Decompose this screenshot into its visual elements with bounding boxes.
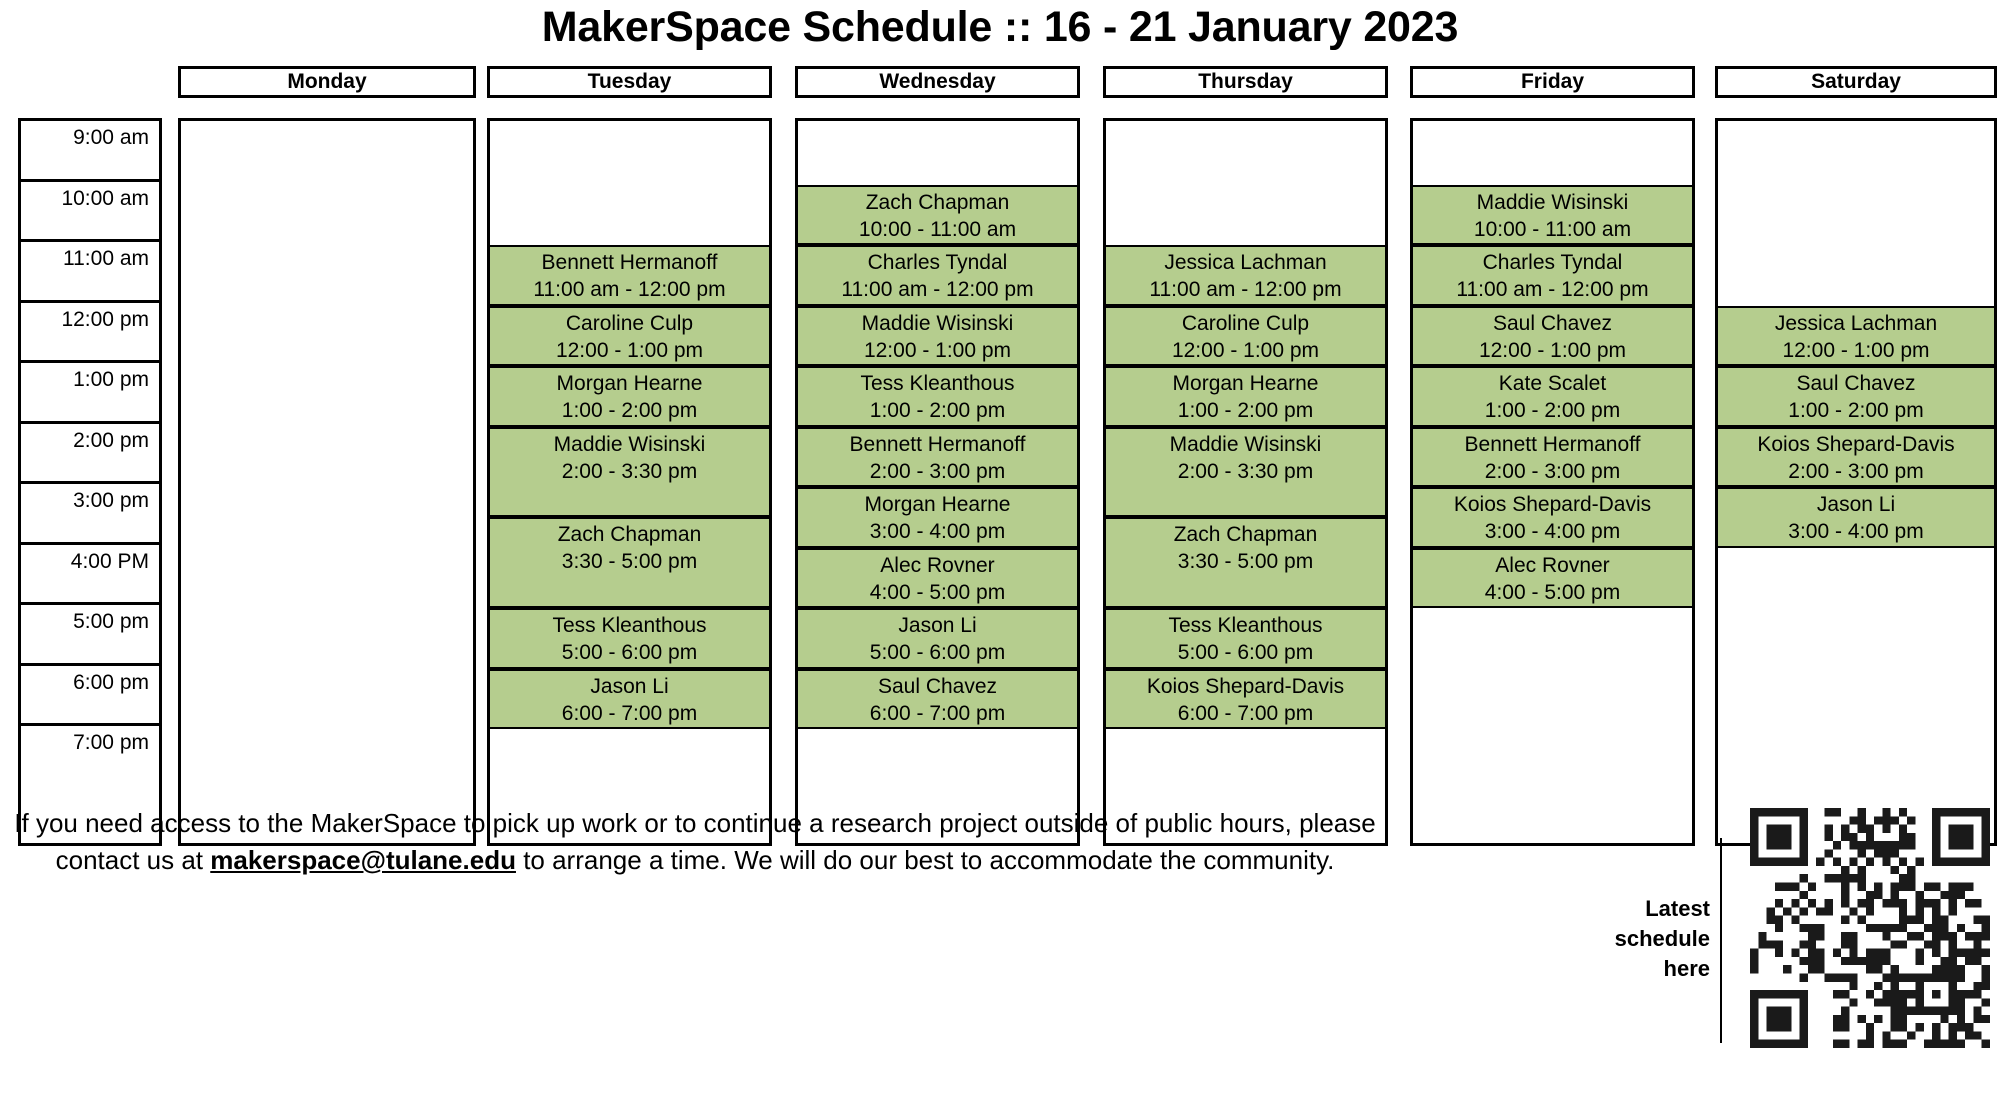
event-block[interactable]: Kate Scalet1:00 - 2:00 pm: [1413, 366, 1692, 427]
day-header-wednesday: Wednesday: [795, 66, 1080, 98]
event-block[interactable]: Tess Kleanthous5:00 - 6:00 pm: [490, 608, 769, 669]
event-block[interactable]: Maddie Wisinski12:00 - 1:00 pm: [798, 306, 1077, 367]
time-label-600pm: 6:00 pm: [21, 666, 159, 727]
event-person-name: Charles Tyndal: [868, 249, 1008, 276]
event-time-range: 2:00 - 3:00 pm: [870, 458, 1005, 485]
event-person-name: Koios Shepard-Davis: [1454, 491, 1651, 518]
event-block[interactable]: Morgan Hearne3:00 - 4:00 pm: [798, 487, 1077, 548]
event-block[interactable]: Jessica Lachman11:00 am - 12:00 pm: [1106, 245, 1385, 306]
event-person-name: Tess Kleanthous: [552, 612, 706, 639]
event-time-range: 5:00 - 6:00 pm: [870, 639, 1005, 666]
event-block[interactable]: Charles Tyndal11:00 am - 12:00 pm: [798, 245, 1077, 306]
event-time-range: 3:30 - 5:00 pm: [562, 548, 697, 575]
event-person-name: Maddie Wisinski: [554, 431, 706, 458]
time-label-200pm: 2:00 pm: [21, 424, 159, 485]
event-person-name: Koios Shepard-Davis: [1147, 673, 1344, 700]
event-block[interactable]: Jason Li3:00 - 4:00 pm: [1718, 487, 1994, 548]
event-block[interactable]: Jason Li5:00 - 6:00 pm: [798, 608, 1077, 669]
day-header-saturday: Saturday: [1715, 66, 1997, 98]
time-axis-column: 9:00 am10:00 am11:00 am12:00 pm1:00 pm2:…: [18, 118, 162, 846]
event-time-range: 1:00 - 2:00 pm: [870, 397, 1005, 424]
event-time-range: 1:00 - 2:00 pm: [1788, 397, 1923, 424]
event-time-range: 3:00 - 4:00 pm: [1485, 518, 1620, 545]
event-block[interactable]: Charles Tyndal11:00 am - 12:00 pm: [1413, 245, 1692, 306]
time-label-500pm: 5:00 pm: [21, 605, 159, 666]
event-person-name: Maddie Wisinski: [1170, 431, 1322, 458]
day-header-row: MondayTuesdayWednesdayThursdayFridaySatu…: [0, 66, 2000, 98]
event-person-name: Jessica Lachman: [1164, 249, 1326, 276]
time-label-700pm: 7:00 pm: [21, 726, 159, 787]
event-time-range: 2:00 - 3:30 pm: [562, 458, 697, 485]
qr-block: Latest schedule here: [1590, 808, 2000, 1078]
makerspace-email-link[interactable]: makerspace@tulane.edu: [210, 845, 516, 875]
event-block[interactable]: Zach Chapman3:30 - 5:00 pm: [490, 517, 769, 608]
event-person-name: Kate Scalet: [1499, 370, 1606, 397]
time-label-900am: 9:00 am: [21, 121, 159, 182]
access-note-text-after: to arrange a time. We will do our best t…: [516, 845, 1334, 875]
day-column-wednesday: Zach Chapman10:00 - 11:00 amCharles Tynd…: [795, 118, 1080, 846]
day-column-monday: [178, 118, 476, 846]
event-person-name: Tess Kleanthous: [860, 370, 1014, 397]
event-person-name: Jason Li: [590, 673, 668, 700]
event-block[interactable]: Jason Li6:00 - 7:00 pm: [490, 669, 769, 730]
time-label-100pm: 1:00 pm: [21, 363, 159, 424]
event-time-range: 3:00 - 4:00 pm: [1788, 518, 1923, 545]
access-note: If you need access to the MakerSpace to …: [0, 805, 1390, 879]
event-time-range: 5:00 - 6:00 pm: [562, 639, 697, 666]
event-person-name: Alec Rovner: [880, 552, 994, 579]
event-time-range: 5:00 - 6:00 pm: [1178, 639, 1313, 666]
event-block[interactable]: Alec Rovner4:00 - 5:00 pm: [798, 548, 1077, 609]
qr-code-icon[interactable]: [1750, 808, 1990, 1048]
time-label-400pm: 4:00 PM: [21, 545, 159, 606]
time-label-1200pm: 12:00 pm: [21, 303, 159, 364]
event-block[interactable]: Jessica Lachman12:00 - 1:00 pm: [1718, 306, 1994, 367]
event-block[interactable]: Saul Chavez1:00 - 2:00 pm: [1718, 366, 1994, 427]
event-block[interactable]: Maddie Wisinski10:00 - 11:00 am: [1413, 185, 1692, 246]
day-header-thursday: Thursday: [1103, 66, 1388, 98]
event-block[interactable]: Saul Chavez12:00 - 1:00 pm: [1413, 306, 1692, 367]
event-block[interactable]: Morgan Hearne1:00 - 2:00 pm: [490, 366, 769, 427]
event-person-name: Maddie Wisinski: [862, 310, 1014, 337]
event-person-name: Saul Chavez: [1796, 370, 1915, 397]
event-person-name: Zach Chapman: [558, 521, 702, 548]
event-time-range: 4:00 - 5:00 pm: [1485, 579, 1620, 606]
event-person-name: Bennett Hermanoff: [542, 249, 718, 276]
time-label-1100am: 11:00 am: [21, 242, 159, 303]
event-time-range: 12:00 - 1:00 pm: [864, 337, 1011, 364]
event-block[interactable]: Koios Shepard-Davis2:00 - 3:00 pm: [1718, 427, 1994, 488]
qr-caption: Latest schedule here: [1590, 894, 1710, 984]
event-block[interactable]: Caroline Culp12:00 - 1:00 pm: [1106, 306, 1385, 367]
event-time-range: 10:00 - 11:00 am: [859, 216, 1016, 243]
event-person-name: Saul Chavez: [1493, 310, 1612, 337]
event-person-name: Caroline Culp: [566, 310, 693, 337]
event-block[interactable]: Morgan Hearne1:00 - 2:00 pm: [1106, 366, 1385, 427]
day-column-friday: Maddie Wisinski10:00 - 11:00 amCharles T…: [1410, 118, 1695, 846]
event-person-name: Zach Chapman: [1174, 521, 1318, 548]
event-block[interactable]: Maddie Wisinski2:00 - 3:30 pm: [490, 427, 769, 518]
event-time-range: 12:00 - 1:00 pm: [1172, 337, 1319, 364]
day-column-thursday: Jessica Lachman11:00 am - 12:00 pmCaroli…: [1103, 118, 1388, 846]
event-person-name: Charles Tyndal: [1483, 249, 1623, 276]
event-block[interactable]: Alec Rovner4:00 - 5:00 pm: [1413, 548, 1692, 609]
event-person-name: Alec Rovner: [1495, 552, 1609, 579]
event-block[interactable]: Bennett Hermanoff2:00 - 3:00 pm: [798, 427, 1077, 488]
event-person-name: Jessica Lachman: [1775, 310, 1937, 337]
event-time-range: 2:00 - 3:00 pm: [1788, 458, 1923, 485]
schedule-grid: 9:00 am10:00 am11:00 am12:00 pm1:00 pm2:…: [0, 118, 2000, 846]
event-time-range: 12:00 - 1:00 pm: [1479, 337, 1626, 364]
time-label-1000am: 10:00 am: [21, 182, 159, 243]
event-time-range: 10:00 - 11:00 am: [1474, 216, 1631, 243]
day-header-monday: Monday: [178, 66, 476, 98]
event-block[interactable]: Koios Shepard-Davis3:00 - 4:00 pm: [1413, 487, 1692, 548]
event-person-name: Morgan Hearne: [557, 370, 703, 397]
page-title: MakerSpace Schedule :: 16 - 21 January 2…: [0, 0, 2000, 51]
event-time-range: 11:00 am - 12:00 pm: [841, 276, 1033, 303]
event-time-range: 6:00 - 7:00 pm: [562, 700, 697, 727]
event-block[interactable]: Bennett Hermanoff2:00 - 3:00 pm: [1413, 427, 1692, 488]
event-person-name: Tess Kleanthous: [1168, 612, 1322, 639]
day-column-tuesday: Bennett Hermanoff11:00 am - 12:00 pmCaro…: [487, 118, 772, 846]
event-time-range: 6:00 - 7:00 pm: [1178, 700, 1313, 727]
event-block[interactable]: Bennett Hermanoff11:00 am - 12:00 pm: [490, 245, 769, 306]
event-block[interactable]: Koios Shepard-Davis6:00 - 7:00 pm: [1106, 669, 1385, 730]
event-block[interactable]: Zach Chapman3:30 - 5:00 pm: [1106, 517, 1385, 608]
event-person-name: Jason Li: [1817, 491, 1895, 518]
event-time-range: 1:00 - 2:00 pm: [1178, 397, 1313, 424]
event-time-range: 2:00 - 3:00 pm: [1485, 458, 1620, 485]
event-person-name: Bennett Hermanoff: [1465, 431, 1641, 458]
event-time-range: 2:00 - 3:30 pm: [1178, 458, 1313, 485]
event-time-range: 12:00 - 1:00 pm: [556, 337, 703, 364]
event-block[interactable]: Caroline Culp12:00 - 1:00 pm: [490, 306, 769, 367]
event-time-range: 12:00 - 1:00 pm: [1782, 337, 1929, 364]
event-time-range: 11:00 am - 12:00 pm: [1456, 276, 1648, 303]
event-time-range: 3:00 - 4:00 pm: [870, 518, 1005, 545]
event-time-range: 1:00 - 2:00 pm: [562, 397, 697, 424]
event-person-name: Zach Chapman: [866, 189, 1010, 216]
qr-divider: [1720, 838, 1722, 1043]
event-person-name: Maddie Wisinski: [1477, 189, 1629, 216]
event-person-name: Caroline Culp: [1182, 310, 1309, 337]
event-person-name: Koios Shepard-Davis: [1757, 431, 1954, 458]
event-person-name: Bennett Hermanoff: [850, 431, 1026, 458]
event-person-name: Saul Chavez: [878, 673, 997, 700]
day-column-saturday: Jessica Lachman12:00 - 1:00 pmSaul Chave…: [1715, 118, 1997, 846]
event-person-name: Jason Li: [898, 612, 976, 639]
event-time-range: 6:00 - 7:00 pm: [870, 700, 1005, 727]
day-header-tuesday: Tuesday: [487, 66, 772, 98]
event-person-name: Morgan Hearne: [1173, 370, 1319, 397]
event-time-range: 11:00 am - 12:00 pm: [533, 276, 725, 303]
event-block[interactable]: Maddie Wisinski2:00 - 3:30 pm: [1106, 427, 1385, 518]
event-block[interactable]: Saul Chavez6:00 - 7:00 pm: [798, 669, 1077, 730]
time-label-300pm: 3:00 pm: [21, 484, 159, 545]
day-header-friday: Friday: [1410, 66, 1695, 98]
event-person-name: Morgan Hearne: [865, 491, 1011, 518]
event-time-range: 11:00 am - 12:00 pm: [1149, 276, 1341, 303]
event-block[interactable]: Zach Chapman10:00 - 11:00 am: [798, 185, 1077, 246]
event-time-range: 4:00 - 5:00 pm: [870, 579, 1005, 606]
event-time-range: 1:00 - 2:00 pm: [1485, 397, 1620, 424]
event-block[interactable]: Tess Kleanthous1:00 - 2:00 pm: [798, 366, 1077, 427]
event-block[interactable]: Tess Kleanthous5:00 - 6:00 pm: [1106, 608, 1385, 669]
event-time-range: 3:30 - 5:00 pm: [1178, 548, 1313, 575]
